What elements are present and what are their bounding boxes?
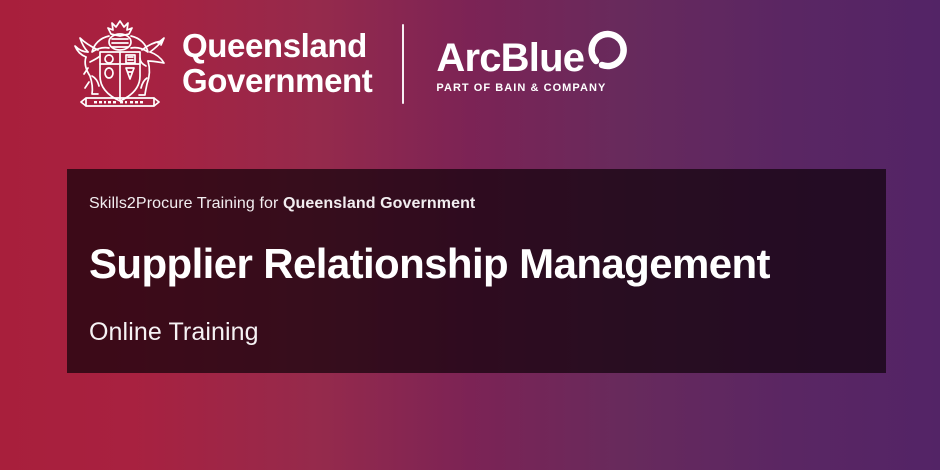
queensland-government-logo: Queensland Government bbox=[68, 14, 372, 114]
qld-wordmark-line2: Government bbox=[182, 64, 372, 99]
arcblue-ring-icon bbox=[586, 28, 632, 74]
eyebrow-organisation: Queensland Government bbox=[283, 195, 475, 212]
qld-wordmark-line1: Queensland bbox=[182, 29, 372, 64]
page-title: Supplier Relationship Management bbox=[89, 241, 886, 286]
arcblue-logo: ArcBlue PART OF BAIN & COMPANY bbox=[436, 34, 632, 94]
arcblue-tagline: PART OF BAIN & COMPANY bbox=[436, 82, 632, 94]
eyebrow-text: Skills2Procure Training for Queensland G… bbox=[89, 195, 886, 213]
arcblue-wordmark: ArcBlue bbox=[436, 38, 584, 78]
logo-band: Queensland Government ArcBlue PART OF BA… bbox=[68, 14, 632, 114]
page-subtitle: Online Training bbox=[89, 318, 886, 347]
vertical-divider bbox=[402, 24, 404, 104]
event-banner: Queensland Government ArcBlue PART OF BA… bbox=[0, 0, 940, 470]
content-panel: Skills2Procure Training for Queensland G… bbox=[67, 169, 886, 373]
arcblue-lockup: ArcBlue bbox=[436, 38, 632, 78]
eyebrow-prefix: Skills2Procure Training for bbox=[89, 195, 283, 212]
queensland-coat-of-arms-icon bbox=[68, 16, 172, 112]
queensland-government-wordmark: Queensland Government bbox=[182, 29, 372, 99]
